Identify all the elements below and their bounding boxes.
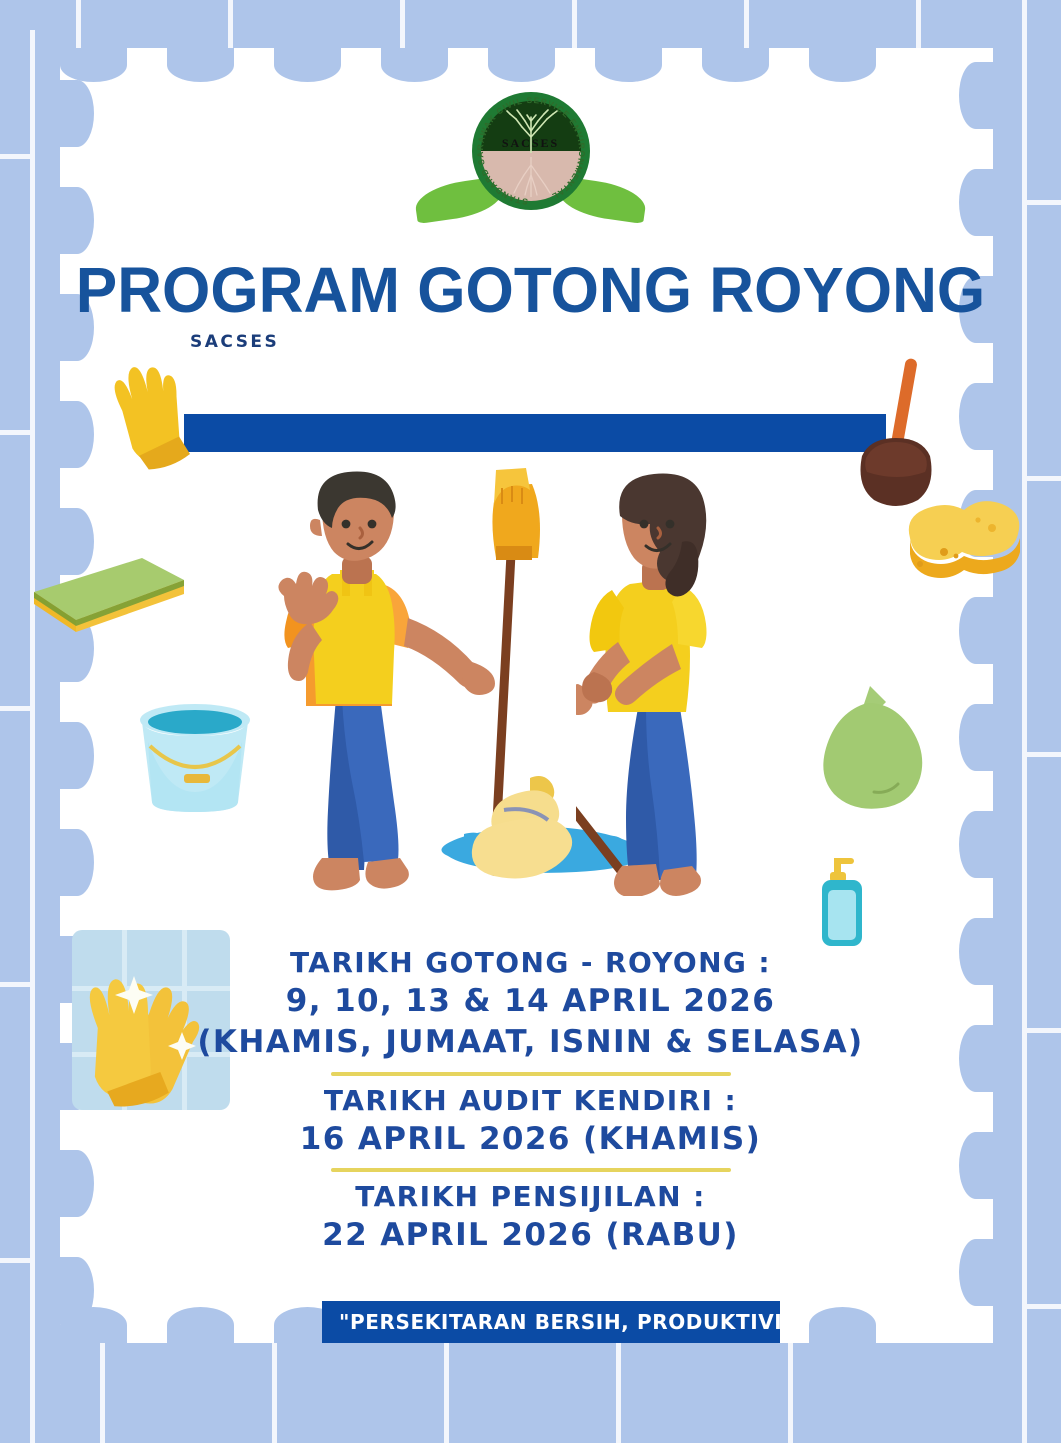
frame-tick-left-2 — [0, 430, 34, 435]
frame-band-bottom — [0, 1343, 1061, 1443]
gotong-royong-heading: TARIKH GOTONG - ROYONG : — [0, 944, 1061, 981]
frame-tick-top-3 — [400, 0, 405, 48]
dates-block: TARIKH GOTONG - ROYONG : 9, 10, 13 & 14 … — [0, 944, 1061, 1257]
green-sponge-icon — [24, 546, 190, 636]
soap-dispenser-icon — [812, 856, 876, 952]
frame-tick-top-2 — [228, 0, 233, 48]
frame-tick-right-1 — [1027, 200, 1061, 205]
audit-kendiri-heading: TARIKH AUDIT KENDIRI : — [0, 1082, 1061, 1119]
yellow-sponge-icon — [898, 486, 1026, 598]
poster-canvas: SACSES STANDARD SARAWAK CIVIL SERVICE EN… — [0, 0, 1061, 1443]
logo-ring-label: STANDARD SARAWAK CIVIL SERVICE ENVIRONME… — [472, 92, 590, 210]
blue-bucket-icon — [134, 698, 256, 820]
frame-tick-right-2 — [1027, 476, 1061, 481]
frame-tick-bottom-4 — [616, 1343, 621, 1443]
logo-ring-text: STANDARD SARAWAK CIVIL SERVICE ENVIRONME… — [474, 95, 586, 207]
pensijilan-date: 22 APRIL 2026 (RABU) — [0, 1215, 1061, 1256]
gotong-royong-days: (KHAMIS, JUMAAT, ISNIN & SELASA) — [0, 1022, 1061, 1063]
svg-text:STANDARD SARAWAK CIVIL SERVICE: STANDARD SARAWAK CIVIL SERVICE ENVIRONME… — [474, 95, 586, 207]
frame-tick-left-3 — [0, 706, 34, 711]
yellow-gloves-icon — [96, 358, 208, 478]
blue-accent-bar — [184, 414, 886, 452]
frame-tick-top-5 — [744, 0, 749, 48]
gotong-royong-dates: 9, 10, 13 & 14 APRIL 2026 — [0, 981, 1061, 1022]
sacses-logo: SACSES STANDARD SARAWAK CIVIL SERVICE EN… — [409, 92, 652, 220]
divider-rule-1 — [331, 1072, 731, 1076]
divider-rule-2 — [331, 1168, 731, 1172]
page-title: PROGRAM GOTONG ROYONG — [16, 258, 1045, 322]
scallop-row-top — [60, 48, 876, 82]
frame-tick-bottom-2 — [272, 1343, 277, 1443]
frame-tick-bottom-3 — [444, 1343, 449, 1443]
frame-tick-left-1 — [0, 154, 34, 159]
frame-tick-bottom-1 — [100, 1343, 105, 1443]
pensijilan-heading: TARIKH PENSIJILAN : — [0, 1178, 1061, 1215]
mop-head-icon — [468, 774, 628, 884]
green-garbage-bag-icon — [818, 682, 926, 818]
audit-kendiri-date: 16 APRIL 2026 (KHAMIS) — [0, 1119, 1061, 1160]
page-subtitle: SACSES — [190, 332, 279, 352]
frame-tick-right-3 — [1027, 752, 1061, 757]
frame-tick-top-4 — [572, 0, 577, 48]
frame-tick-top-6 — [916, 0, 921, 48]
frame-tick-right-5 — [1027, 1304, 1061, 1309]
frame-tick-top-1 — [76, 0, 81, 48]
slogan-banner: "PERSEKITARAN BERSIH, PRODUKTIVITI MENIN… — [322, 1301, 780, 1343]
frame-tick-left-5 — [0, 1258, 34, 1263]
slogan-text: "PERSEKITARAN BERSIH, PRODUKTIVITI MENIN… — [339, 1310, 780, 1334]
frame-tick-bottom-5 — [788, 1343, 793, 1443]
